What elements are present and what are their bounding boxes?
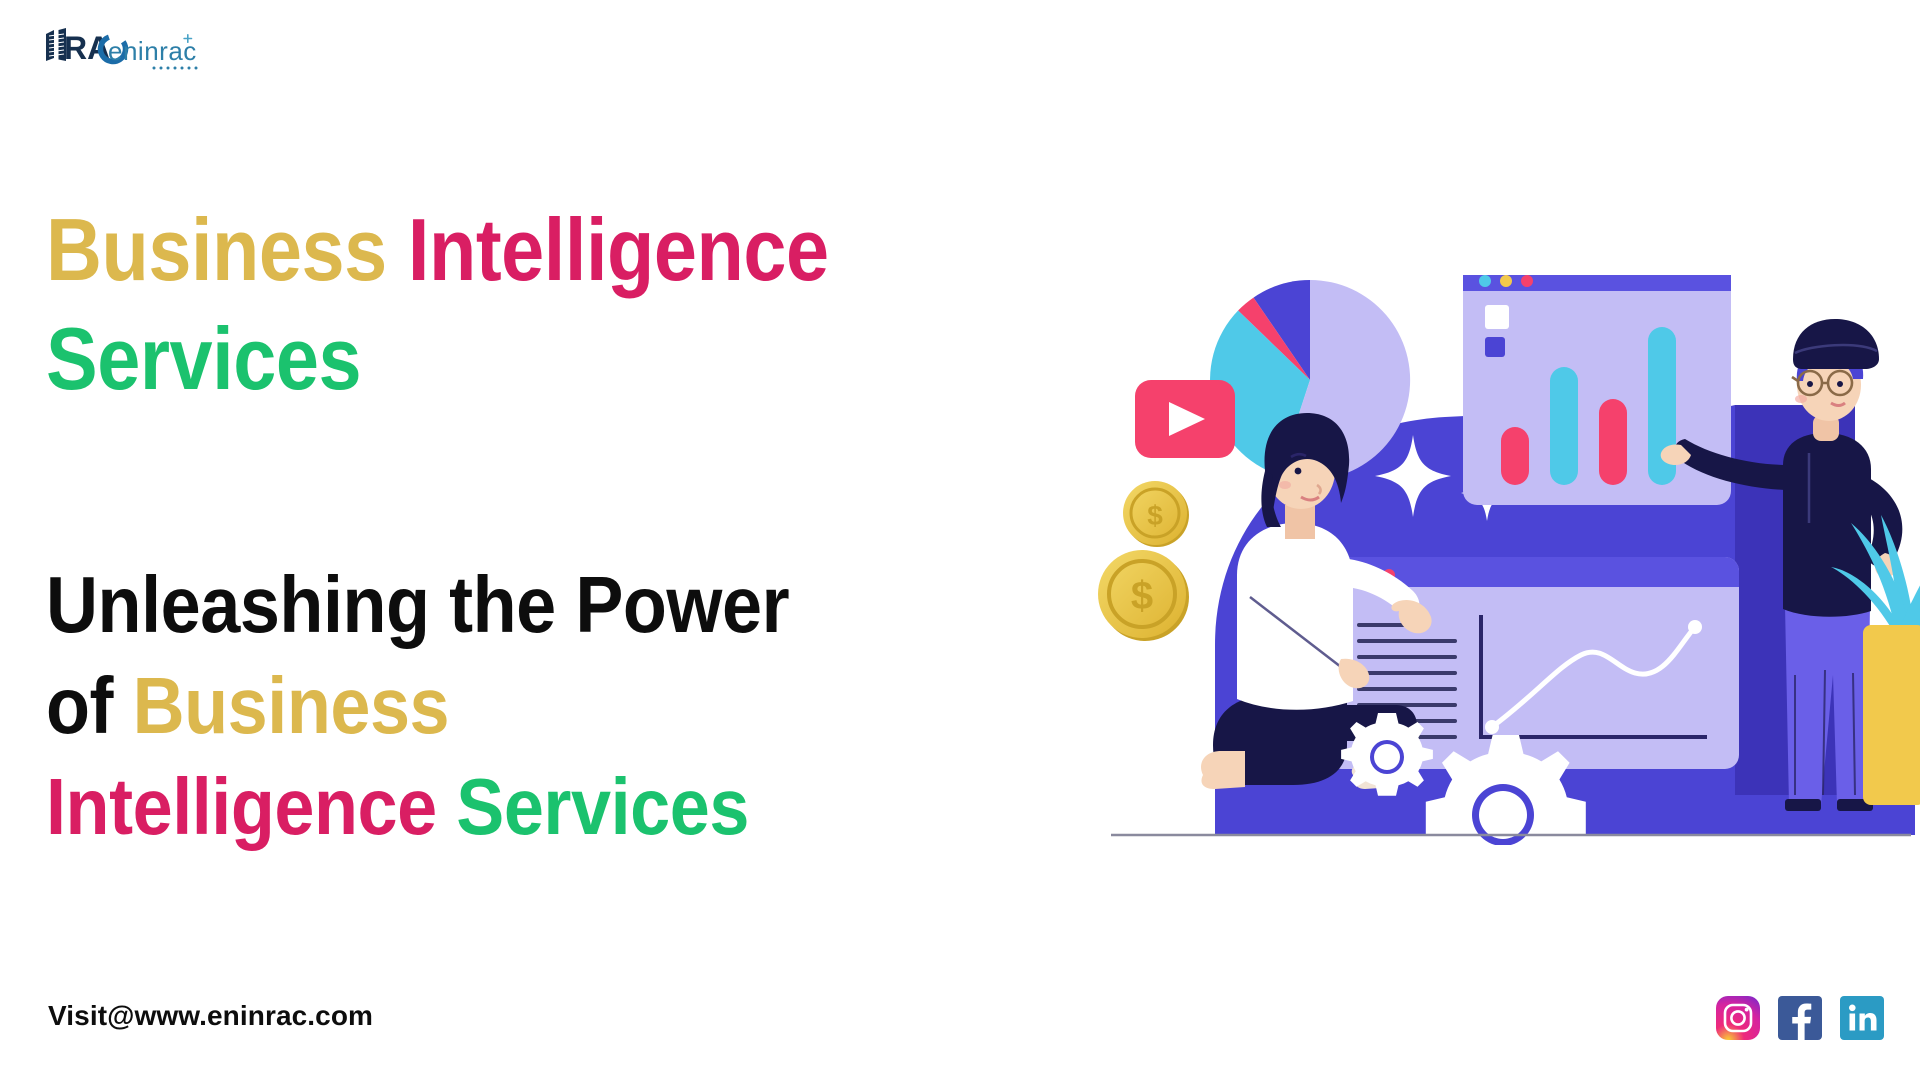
logo-svg: RA eninrac [44, 28, 224, 74]
title-word-services: Services [46, 309, 361, 408]
subtitle-line-2: of Business [46, 656, 1036, 757]
coin-dollar-sign-large: $ [1131, 574, 1153, 618]
title-word-intelligence: Intelligence [408, 200, 829, 299]
visit-url-text: Visit@www.eninrac.com [48, 1000, 373, 1032]
woman-foot [1201, 751, 1245, 789]
coin-dollar-sign: $ [1147, 500, 1163, 531]
plant-pot [1863, 625, 1920, 805]
business-intelligence-illustration: $ $ [1095, 275, 1920, 845]
page-title: Business Intelligence Services [46, 195, 1106, 413]
bar-1 [1501, 427, 1529, 485]
brand-logo[interactable]: RA eninrac [44, 28, 224, 74]
instagram-icon[interactable] [1716, 996, 1760, 1040]
logo-dots-icon [153, 67, 198, 70]
logo-eninrac-text: eninrac [108, 36, 197, 66]
subtitle-word-intelligence: Intelligence [46, 762, 456, 851]
line-chart-point-end [1688, 620, 1702, 634]
page-subtitle: Unleashing the Power of Business Intelli… [46, 555, 1146, 857]
gear-small-icon [1341, 713, 1433, 796]
subtitle-word-business: Business [133, 661, 450, 750]
man-shoe-left [1785, 799, 1821, 811]
legend-swatch-purple [1485, 337, 1505, 357]
subtitle-line-3: Intelligence Services [46, 757, 1036, 858]
facebook-icon[interactable] [1778, 996, 1822, 1040]
linkedin-icon-svg [1840, 996, 1884, 1040]
window-dots [1479, 275, 1533, 287]
social-links [1716, 996, 1884, 1040]
legend-swatch-white [1485, 305, 1509, 329]
bar-chart-window [1463, 275, 1731, 505]
facebook-icon-svg [1778, 996, 1822, 1040]
title-word-business: Business [46, 200, 408, 299]
illustration-svg: $ $ [1095, 275, 1920, 845]
bar-3 [1599, 399, 1627, 485]
title-line-2: Services [46, 304, 979, 413]
man-torso [1783, 433, 1871, 617]
line-chart-point-start [1485, 720, 1499, 734]
subtitle-phrase-unleashing: Unleashing the Power [46, 560, 789, 649]
linkedin-icon[interactable] [1840, 996, 1884, 1040]
instagram-icon-svg [1716, 996, 1760, 1040]
woman-eye [1295, 468, 1302, 475]
subtitle-word-services: Services [456, 762, 749, 851]
gold-coins: $ $ [1098, 481, 1189, 641]
woman-neck [1285, 505, 1315, 539]
subtitle-line-1: Unleashing the Power [46, 555, 1036, 656]
logo-hatch-icon [46, 28, 66, 61]
coin-small: $ [1123, 481, 1189, 547]
play-button-icon[interactable] [1135, 380, 1235, 458]
subtitle-word-of: of [46, 661, 133, 750]
coin-large: $ [1098, 550, 1189, 641]
bar-2 [1550, 367, 1578, 485]
title-line-1: Business Intelligence [46, 195, 979, 304]
